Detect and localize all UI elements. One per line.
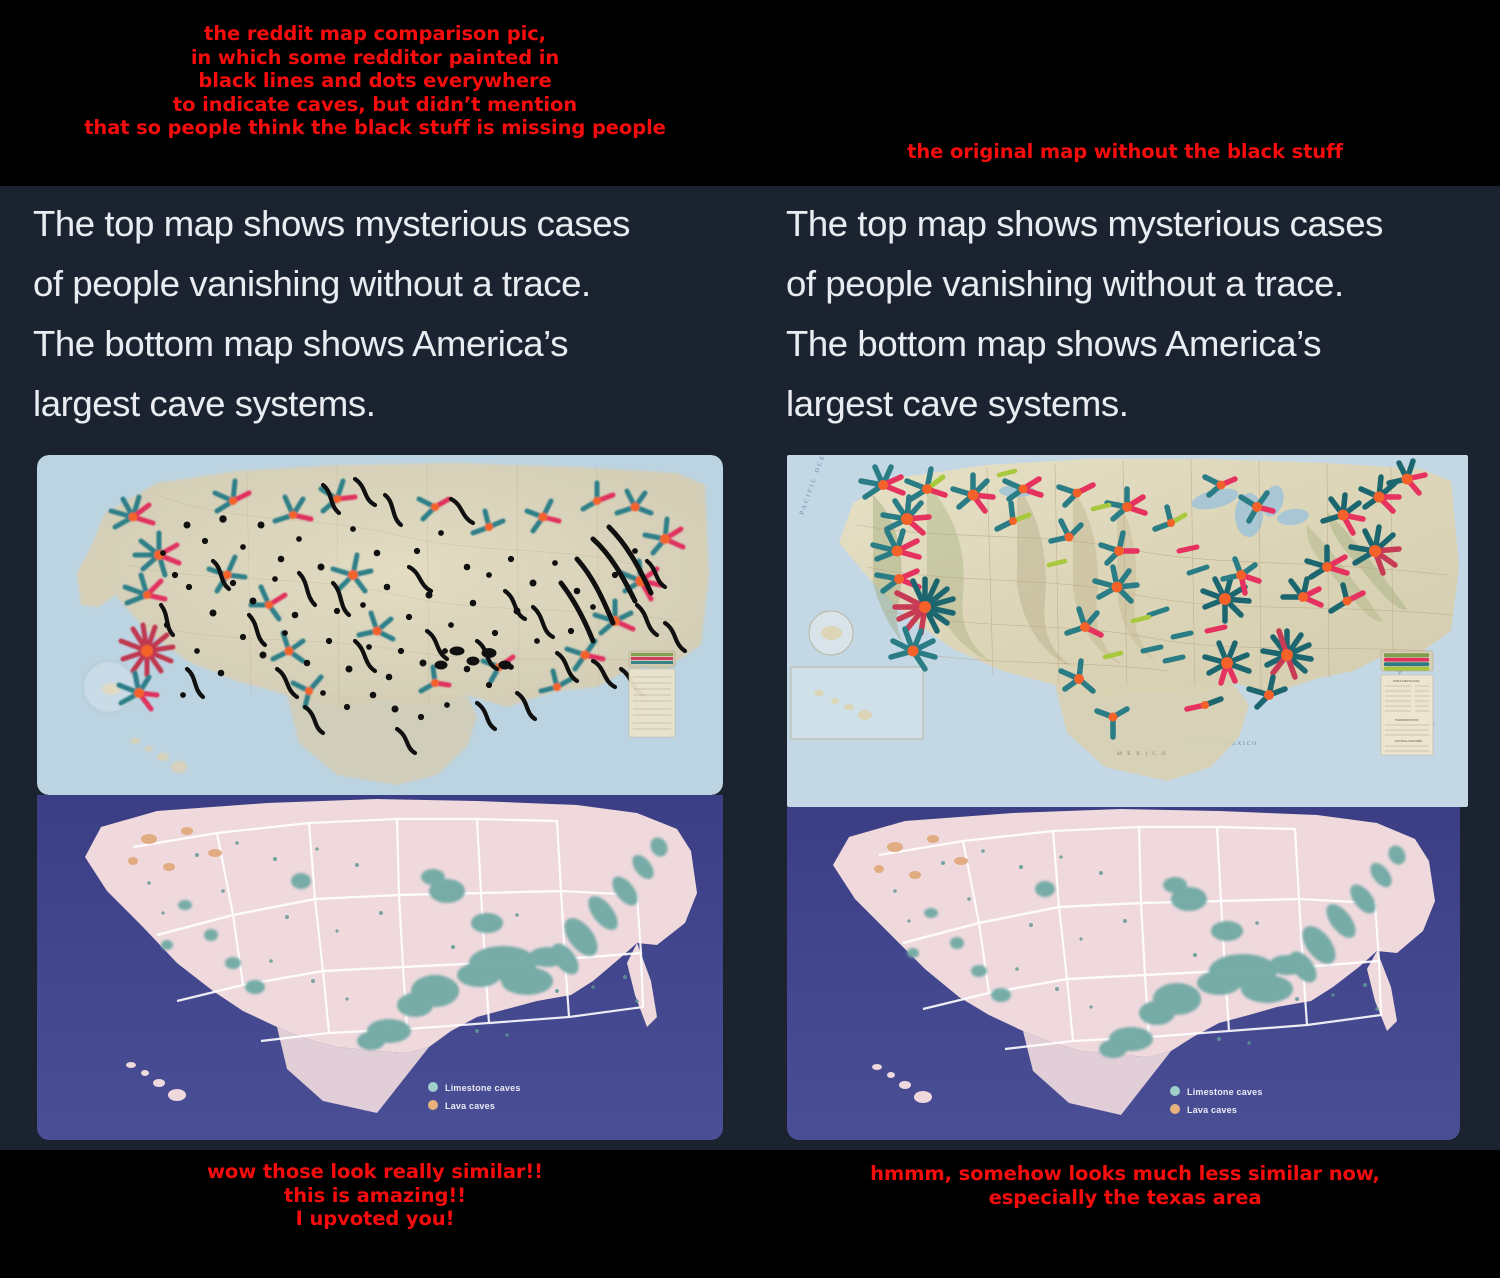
- panel-left-body-text: The top map shows mysterious cases of pe…: [33, 194, 740, 434]
- legend-lava-caves-label-right: Lava caves: [1187, 1105, 1237, 1115]
- meme-canvas: the reddit map comparison pic, in which …: [0, 0, 1500, 1278]
- bottom-right-caption-slot: hmmm, somehow looks much less similar no…: [750, 1150, 1500, 1278]
- svg-text:PHYSICAL FEATURES: PHYSICAL FEATURES: [1395, 739, 1422, 743]
- caption-bottom-left: wow those look really similar!! this is …: [207, 1160, 543, 1231]
- legend-limestone-caves-label-right: Limestone caves: [1187, 1087, 1263, 1097]
- top-left-caption-slot: the reddit map comparison pic, in which …: [0, 0, 750, 186]
- caption-top-right: the original map without the black stuff: [907, 140, 1343, 164]
- bottom-left-caption-slot: wow those look really similar!! this is …: [0, 1150, 750, 1278]
- svg-text:M E X I C O: M E X I C O: [1117, 751, 1168, 757]
- cave-map-image-left: Limestone caves Lava caves: [37, 795, 723, 1140]
- bottom-caption-bar: wow those look really similar!! this is …: [0, 1150, 1500, 1278]
- panel-original-version: The top map shows mysterious cases of pe…: [750, 186, 1500, 1150]
- panel-right-body-text: The top map shows mysterious cases of pe…: [786, 194, 1490, 434]
- top-caption-bar: the reddit map comparison pic, in which …: [0, 0, 1500, 186]
- caption-bottom-right: hmmm, somehow looks much less similar no…: [870, 1162, 1380, 1209]
- pin-map-original-image: PACIFIC OCEAN ATLANTIC OCEAN GULF OF MEX…: [787, 455, 1468, 807]
- svg-text:POPULATED PLACES: POPULATED PLACES: [1393, 679, 1420, 683]
- cave-map-image-right: Limestone caves Lava caves: [787, 807, 1460, 1140]
- top-right-caption-slot: the original map without the black stuff: [750, 0, 1500, 186]
- pin-map-painted-image: [37, 455, 723, 795]
- legend-lava-caves-label: Lava caves: [445, 1101, 495, 1111]
- caption-top-left: the reddit map comparison pic, in which …: [84, 22, 666, 140]
- svg-text:TRANSPORTATION: TRANSPORTATION: [1395, 718, 1419, 722]
- legend-limestone-caves-label: Limestone caves: [445, 1083, 521, 1093]
- panel-edited-version: The top map shows mysterious cases of pe…: [0, 186, 750, 1150]
